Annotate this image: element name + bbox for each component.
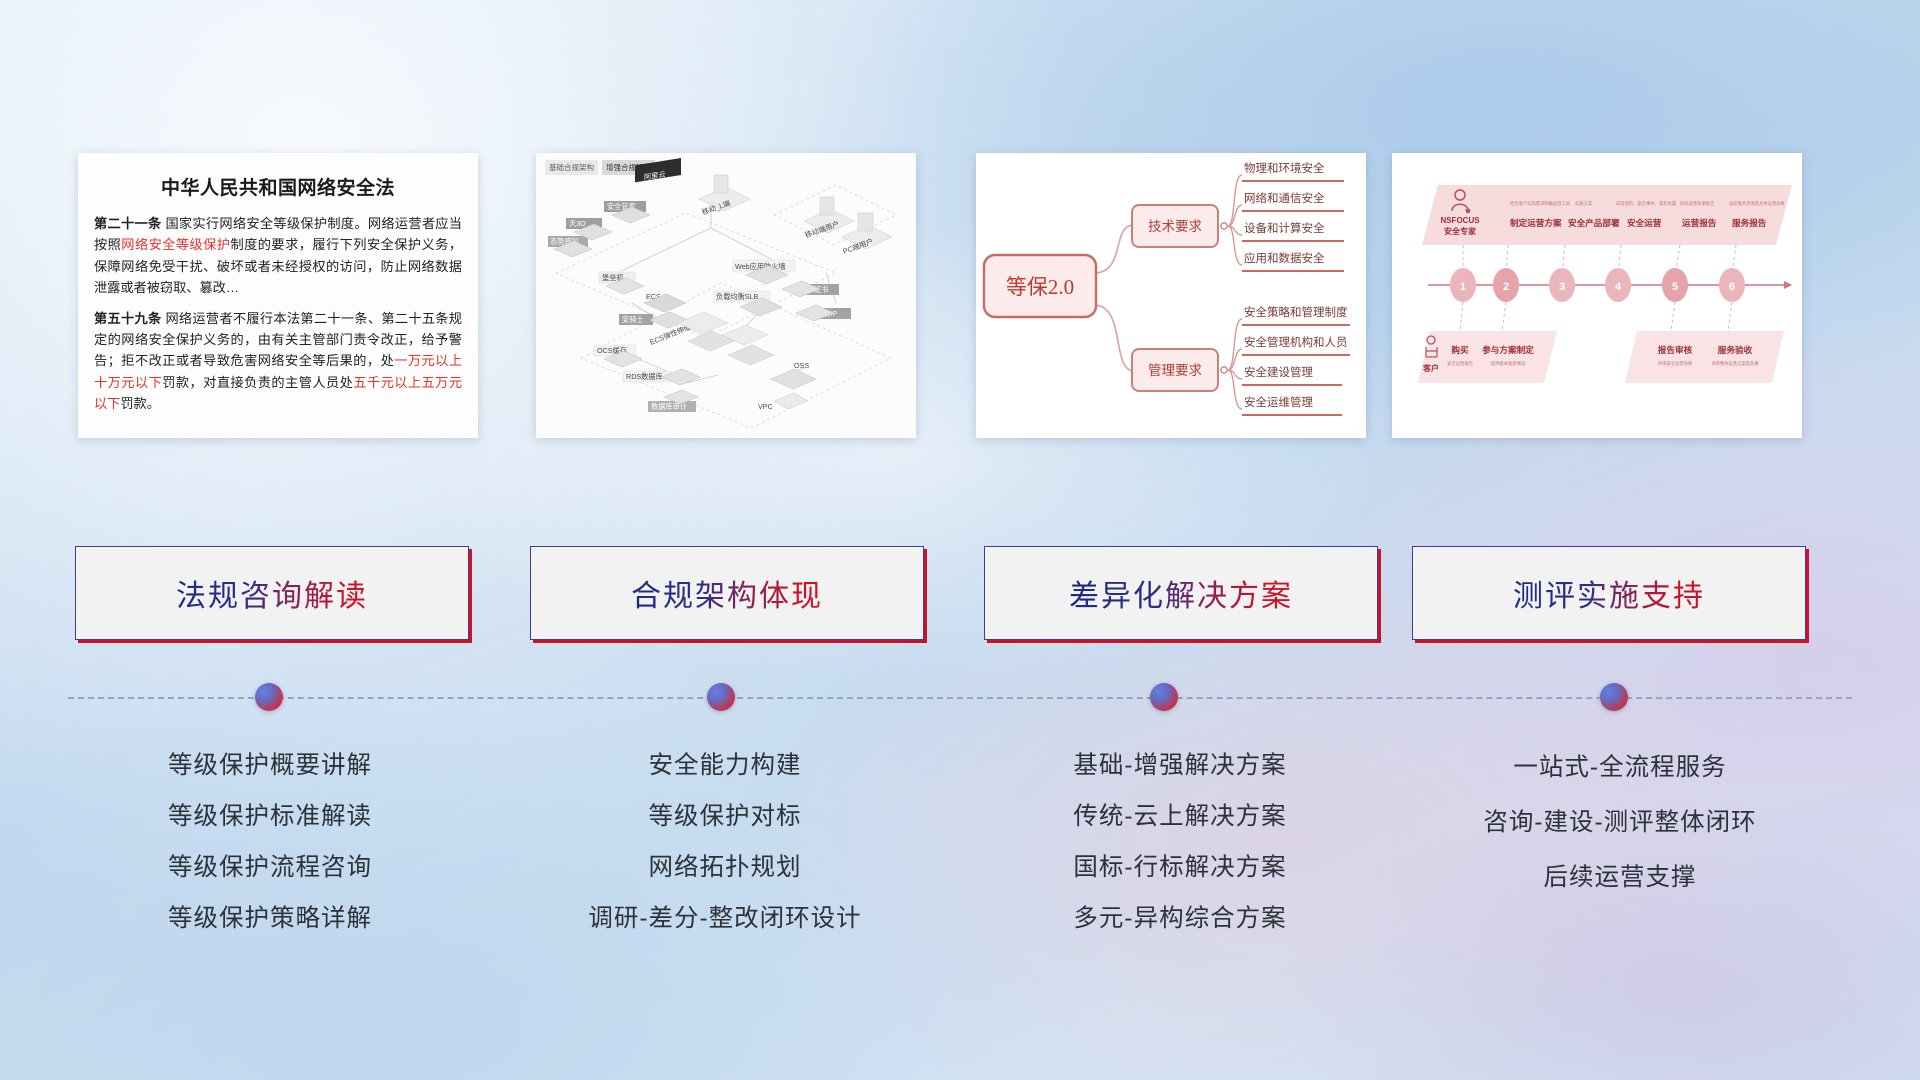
- law-article-21-label: 第二十一条: [94, 216, 161, 231]
- nsfocus-step-2-sub: 结合客户实际需求明确运营工具: [1510, 200, 1571, 207]
- detail-list-2: 安全能力构建 等级保护对标 网络拓扑规划 调研-差分-整改闭环设计: [525, 740, 925, 944]
- customer-step-1-sub: 安全运营报告: [1447, 360, 1473, 367]
- customer-step-5-sub: 评审安全运营效果: [1658, 360, 1693, 367]
- nsfocus-step-6-sub: 总结服务范围及总体运营效果: [1729, 200, 1786, 207]
- mindmap-diagram: 等保2.0 技术要求 物理和环境安全 网络和通信安全 设备和计算安全 应用: [976, 153, 1366, 438]
- list-item: 多元-异构综合方案: [975, 893, 1385, 944]
- heading-plate-row: 法规咨询解读 合规架构体现 差异化解决方案 测评实施支持: [0, 546, 1920, 644]
- mindmap-branch-tech-label: 技术要求: [1148, 219, 1202, 234]
- list-item: 国标-行标解决方案: [975, 842, 1385, 893]
- nsfocus-customer-band-right: [1625, 331, 1784, 383]
- heading-plate-2[interactable]: 合规架构体现: [530, 546, 924, 640]
- mindmap-leaf-tech-2: 设备和计算安全: [1244, 221, 1325, 235]
- list-item: 一站式-全流程服务: [1420, 740, 1820, 795]
- mindmap-leaf-tech-3: 应用和数据安全: [1244, 251, 1325, 265]
- svg-text:负载均衡SLB: 负载均衡SLB: [716, 292, 759, 301]
- process-step-4-num: 4: [1615, 281, 1622, 293]
- heading-plate-1[interactable]: 法规咨询解读: [75, 546, 469, 640]
- timeline-marker-1[interactable]: [255, 683, 283, 711]
- process-step-5-num: 5: [1672, 281, 1678, 293]
- card-row: 中华人民共和国网络安全法 第二十一条 国家实行网络安全等级保护制度。网络运营者应…: [0, 153, 1920, 453]
- nsfocus-step-4-title: 安全运营: [1627, 217, 1662, 228]
- law-article-59-label: 第五十九条: [94, 311, 161, 326]
- process-step-6-num: 6: [1729, 281, 1735, 293]
- mindmap-leaf-mgmt-2: 安全建设管理: [1244, 365, 1313, 379]
- architecture-node-group: 态势感知 天3O 安全管家 阿里云 堡垒机 ECS: [548, 158, 892, 412]
- heading-plate-1-label: 法规咨询解读: [176, 571, 368, 615]
- customer-step-1-title: 购买: [1451, 344, 1469, 355]
- detail-list-3: 基础-增强解决方案 传统-云上解决方案 国标-行标解决方案 多元-异构综合方案: [975, 740, 1385, 944]
- list-item: 等级保护概要讲解: [70, 740, 470, 791]
- mindmap-leaf-tech-0: 物理和环境安全: [1244, 161, 1325, 175]
- mindmap-collapse-toggle-tech[interactable]: [1221, 223, 1227, 229]
- card-mindmap[interactable]: 等保2.0 技术要求 物理和环境安全 网络和通信安全 设备和计算安全 应用: [976, 153, 1366, 438]
- list-item: 等级保护对标: [525, 791, 925, 842]
- mindmap-leaf-mgmt-0: 安全策略和管理制度: [1244, 305, 1348, 319]
- customer-step-6-sub: 评审整体运营方案及效果: [1711, 360, 1759, 367]
- svg-text:VPC: VPC: [758, 402, 773, 411]
- nsfocus-expert-name: NSFOCUS: [1440, 216, 1480, 225]
- customer-step-2-title: 参与方案制定: [1482, 344, 1534, 355]
- mindmap-branch-mgmt-label: 管理要求: [1148, 363, 1202, 378]
- heading-plate-3[interactable]: 差异化解决方案: [984, 546, 1378, 640]
- nsfocus-step-3-title: 安全产品部署: [1568, 217, 1620, 228]
- law-article-59-seg-4: 罚款。: [120, 396, 160, 411]
- timeline: [0, 697, 1920, 727]
- heading-plate-4-label: 测评实施支持: [1513, 571, 1705, 615]
- list-item: 咨询-建设-测评整体闭环: [1420, 795, 1820, 850]
- nsfocus-customer-name: 客户: [1422, 363, 1439, 373]
- nsfocus-expert-band: [1422, 185, 1792, 245]
- list-item: 等级保护标准解读: [70, 791, 470, 842]
- nsfocus-customer-band-left: [1418, 331, 1557, 383]
- law-article-21: 第二十一条 国家实行网络安全等级保护制度。网络运营者应当按照网络安全等级保护制度…: [94, 213, 462, 299]
- card-law-text[interactable]: 中华人民共和国网络安全法 第二十一条 国家实行网络安全等级保护制度。网络运营者应…: [78, 153, 478, 438]
- nsfocus-step-3-sub: 实施方案: [1575, 200, 1593, 207]
- nsfocus-process-diagram: NSFOCUS 安全专家 结合客户实际需求明确运营工具 制定运营方案 实施方案 …: [1392, 153, 1802, 438]
- customer-step-6-title: 服务验收: [1718, 344, 1753, 355]
- timeline-marker-4[interactable]: [1600, 683, 1628, 711]
- architecture-diagram: 态势感知 天3O 安全管家 阿里云 堡垒机 ECS: [536, 153, 916, 438]
- nsfocus-step-6-title: 服务报告: [1732, 217, 1767, 228]
- nsfocus-step-5-sub: 阶段运营效果报告: [1680, 200, 1715, 207]
- mindmap-leaf-tech-1: 网络和通信安全: [1244, 191, 1325, 205]
- list-item: 等级保护策略详解: [70, 893, 470, 944]
- svg-text:安骑士: 安骑士: [622, 315, 644, 324]
- law-article-59: 第五十九条 网络运营者不履行本法第二十一条、第二十五条规定的网络安全保护义务的，…: [94, 308, 462, 415]
- law-article-21-seg-1: 网络安全等级保护: [121, 237, 230, 252]
- svg-text:OSS: OSS: [794, 361, 809, 370]
- law-article-59-seg-2: 罚款，对直接负责的主管人员处: [162, 375, 353, 390]
- nsfocus-step-2-title: 制定运营方案: [1510, 217, 1562, 228]
- list-item: 调研-差分-整改闭环设计: [525, 893, 925, 944]
- heading-plate-3-label: 差异化解决方案: [1069, 571, 1293, 615]
- mindmap-leaf-mgmt-3: 安全运维管理: [1244, 395, 1313, 409]
- svg-text:天3O: 天3O: [569, 219, 586, 228]
- process-arrow-icon: [1784, 281, 1792, 289]
- detail-list-4: 一站式-全流程服务 咨询-建设-测评整体闭环 后续运营支撑: [1420, 740, 1820, 905]
- list-item: 网络拓扑规划: [525, 842, 925, 893]
- list-item: 传统-云上解决方案: [975, 791, 1385, 842]
- mindmap-leaf-mgmt-1: 安全管理机构和人员: [1244, 335, 1348, 349]
- customer-step-2-sub: 提供基本现状情况: [1491, 360, 1526, 367]
- process-step-1-num: 1: [1460, 281, 1466, 293]
- timeline-marker-2[interactable]: [707, 683, 735, 711]
- nsfocus-expert-sub: 安全专家: [1444, 226, 1477, 236]
- timeline-marker-3[interactable]: [1150, 683, 1178, 711]
- card-nsfocus-process[interactable]: NSFOCUS 安全专家 结合客户实际需求明确运营工具 制定运营方案 实施方案 …: [1392, 153, 1802, 438]
- detail-list-1: 等级保护概要讲解 等级保护标准解读 等级保护流程咨询 等级保护策略详解: [70, 740, 470, 944]
- process-step-2-num: 2: [1503, 281, 1509, 293]
- law-title: 中华人民共和国网络安全法: [94, 173, 462, 200]
- svg-text:RDS数据库: RDS数据库: [626, 372, 663, 381]
- detail-list-row: 等级保护概要讲解 等级保护标准解读 等级保护流程咨询 等级保护策略详解 安全能力…: [0, 740, 1920, 980]
- list-item: 后续运营支撑: [1420, 850, 1820, 905]
- timeline-dashed-line: [68, 697, 1852, 699]
- mindmap-root-label: 等保2.0: [1006, 275, 1074, 299]
- process-step-3-num: 3: [1559, 281, 1565, 293]
- list-item: 等级保护流程咨询: [70, 842, 470, 893]
- heading-plate-4[interactable]: 测评实施支持: [1412, 546, 1806, 640]
- list-item: 基础-增强解决方案: [975, 740, 1385, 791]
- card-cloud-architecture[interactable]: 基础合规架构 增强合规架构: [536, 153, 916, 438]
- heading-plate-2-label: 合规架构体现: [631, 571, 823, 615]
- nsfocus-step-5-title: 运营报告: [1682, 217, 1717, 228]
- mindmap-collapse-toggle-mgmt[interactable]: [1221, 367, 1227, 373]
- customer-step-5-title: 报告审核: [1658, 344, 1693, 355]
- nsfocus-step-4-sub: 日常巡检、安全事件、高危处置: [1616, 200, 1677, 207]
- list-item: 安全能力构建: [525, 740, 925, 791]
